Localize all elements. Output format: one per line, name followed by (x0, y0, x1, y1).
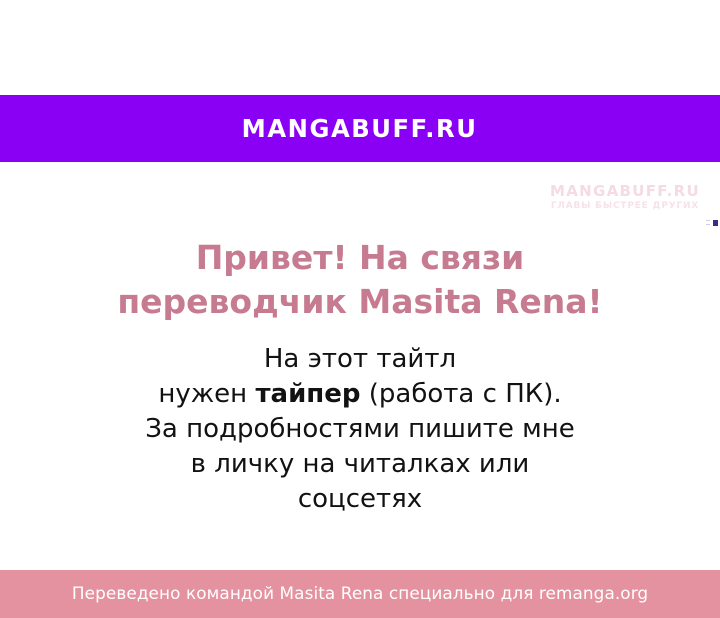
body-line-2-emphasis: тайпер (255, 379, 360, 409)
announcement-body: На этот тайтл нужен тайпер (работа с ПК)… (0, 342, 720, 517)
body-line-2: нужен тайпер (работа с ПК). (0, 377, 720, 412)
site-banner-label: MANGABUFF.RU (242, 116, 478, 141)
body-line-3: За подробностями пишите мне (0, 412, 720, 447)
watermark-main-text: MANGABUFF.RU (540, 183, 710, 200)
edge-artifact-tick-bottom (706, 224, 710, 225)
greeting-line-2: переводчик Masita Rena! (0, 280, 720, 324)
body-line-2-suffix: (работа с ПК). (361, 379, 562, 409)
greeting-heading: Привет! На связи переводчик Masita Rena! (0, 236, 720, 324)
watermark-sub-text: ГЛАВЫ БЫСТРЕЕ ДРУГИХ (540, 200, 710, 212)
site-banner: MANGABUFF.RU (0, 95, 720, 162)
greeting-line-1: Привет! На связи (0, 236, 720, 280)
body-line-5: соцсетях (0, 482, 720, 517)
manga-page: MANGABUFF.RU MANGABUFF.RU ГЛАВЫ БЫСТРЕЕ … (0, 0, 720, 618)
body-line-2-prefix: нужен (158, 379, 255, 409)
translator-credit-bar: Переведено командой Masita Rena специаль… (0, 570, 720, 618)
body-line-4: в личку на читалках или (0, 447, 720, 482)
top-whitespace (0, 0, 720, 95)
edge-artifact-speck (713, 220, 718, 226)
watermark: MANGABUFF.RU ГЛАВЫ БЫСТРЕЕ ДРУГИХ (540, 183, 710, 212)
translator-credit-text: Переведено командой Masita Rena специаль… (72, 586, 648, 603)
body-line-1: На этот тайтл (0, 342, 720, 377)
edge-artifact-tick-top (706, 220, 710, 221)
